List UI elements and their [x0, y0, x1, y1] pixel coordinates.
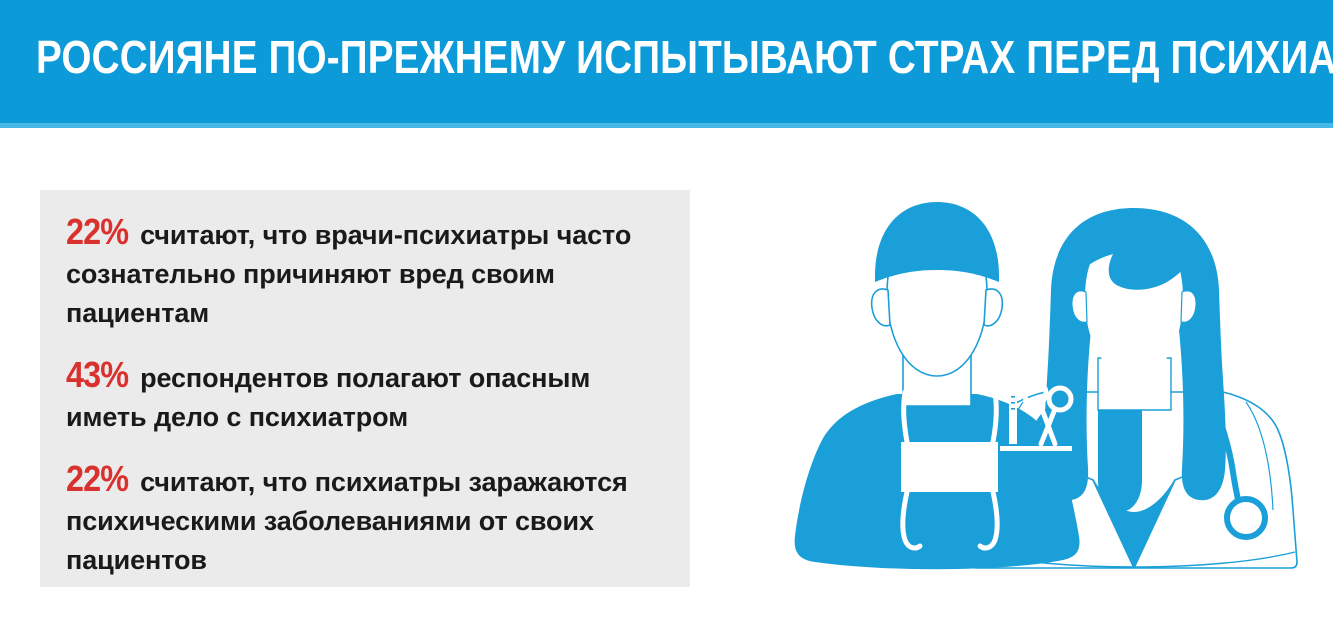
- statistic-percent-value: 22%: [66, 212, 128, 251]
- face-mask-strap-upper-right: [993, 392, 996, 442]
- male-ear-right: [984, 289, 1002, 326]
- face-mask-panel: [901, 442, 998, 492]
- statistic-item: 22%считают, что психиатры заражаются пси…: [66, 459, 660, 580]
- badge-baseline: [1000, 446, 1072, 451]
- syringe-icon: [1009, 380, 1017, 444]
- doctors-illustration-svg: [755, 180, 1315, 580]
- syringe-tick-3: [1011, 408, 1015, 410]
- stethoscope-chestpiece: [1227, 499, 1265, 537]
- statistic-item: 22%считают, что врачи-психиатры часто со…: [66, 212, 660, 333]
- male-ear-left: [872, 289, 890, 326]
- male-surgeon-figure: [795, 202, 1080, 569]
- inner-shirt: [1098, 398, 1142, 512]
- header-underline-divider: [0, 123, 1333, 128]
- statistics-panel: 22%считают, что врачи-психиатры часто со…: [40, 190, 690, 587]
- statistic-item: 43%респондентов полагают опасным иметь д…: [66, 355, 660, 437]
- syringe-tick-1: [1011, 396, 1015, 398]
- page-title: РОССИЯНЕ ПО-ПРЕЖНЕМУ ИСПЫТЫВАЮТ СТРАХ ПЕ…: [36, 29, 1103, 89]
- syringe-tick-2: [1011, 402, 1015, 404]
- statistic-description: респондентов полагают опасным иметь дело…: [66, 363, 590, 432]
- face-mask-strap-upper-left: [904, 392, 907, 442]
- statistic-description: считают, что психиатры заражаются психич…: [66, 467, 628, 575]
- two-doctors-illustration: [755, 180, 1315, 580]
- statistic-percent-value: 22%: [66, 459, 128, 498]
- statistic-percent-value: 43%: [66, 355, 128, 394]
- statistic-description: считают, что врачи-психиатры часто созна…: [66, 220, 631, 328]
